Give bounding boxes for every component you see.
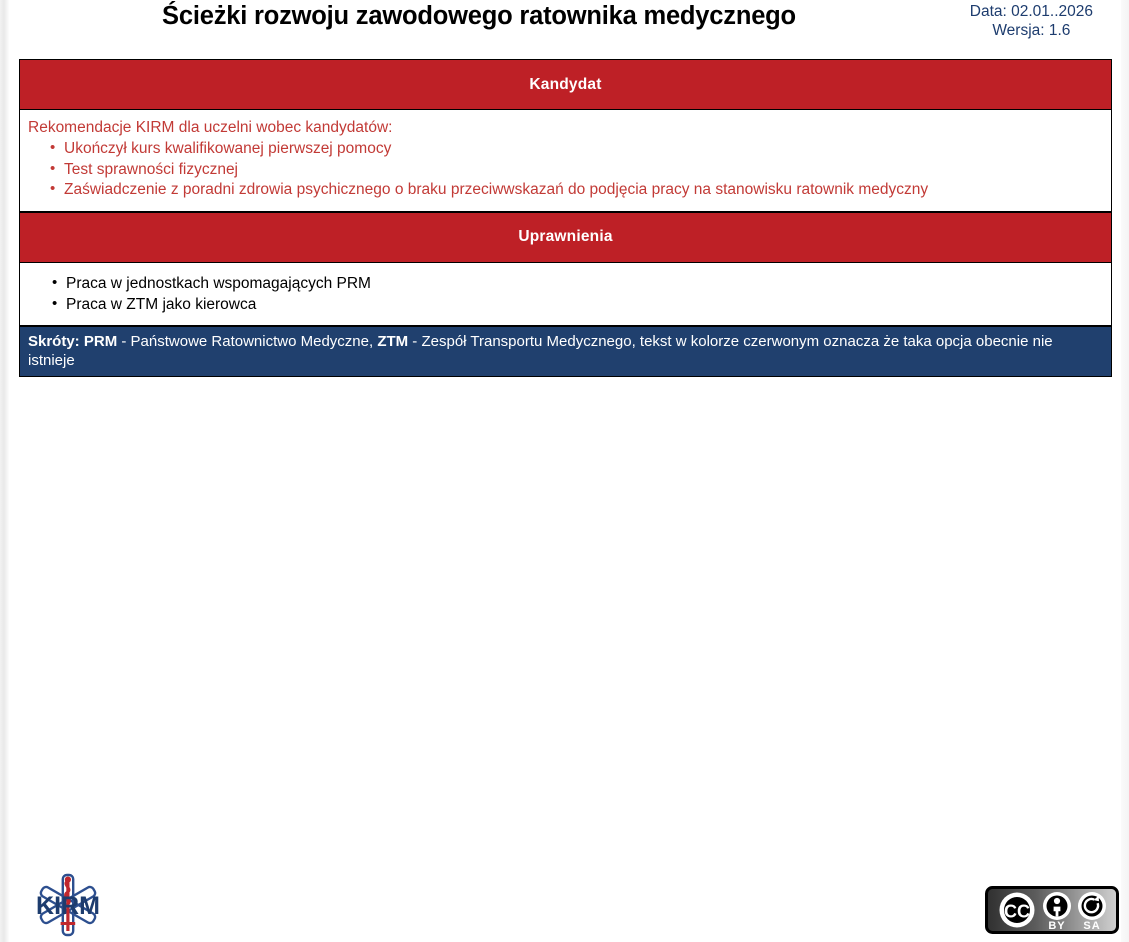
permissions-list: Praca w jednostkach wspomagających PRM P…: [26, 273, 1101, 315]
kirm-logo: KIRM: [20, 872, 116, 938]
page-title: Ścieżki rozwoju zawodowego ratownika med…: [9, 2, 949, 31]
page-edge-left: [0, 0, 9, 942]
document-date: Data: 02.01..2026: [970, 2, 1093, 21]
legend-abbr-prm: PRM: [84, 333, 117, 350]
document-version: Wersja: 1.6: [970, 21, 1093, 40]
recommendation-list: Ukończył kurs kwalifikowanej pierwszej p…: [26, 139, 1101, 201]
section-body-uprawnienia: Praca w jednostkach wspomagających PRM P…: [19, 262, 1112, 326]
kirm-logo-graphic: KIRM: [20, 872, 116, 938]
kirm-wordmark-text: KIRM: [36, 892, 100, 920]
list-item: Zaświadczenie z poradni zdrowia psychicz…: [50, 180, 1101, 201]
cc-badge-graphic: CC BY SA: [985, 886, 1119, 934]
section-header-label: Uprawnienia: [518, 228, 612, 246]
legend-prm-expansion: - Państwowe Ratownictwo Medyczne,: [117, 333, 377, 350]
list-item: Ukończył kurs kwalifikowanej pierwszej p…: [50, 139, 1101, 160]
section-header-kandydat: Kandydat: [19, 59, 1112, 109]
legend-bar: Skróty: PRM - Państwowe Ratownictwo Medy…: [19, 326, 1112, 377]
section-body-kandydat: Rekomendacje KIRM dla uczelni wobec kand…: [19, 109, 1112, 212]
legend-abbr-ztm: ZTM: [377, 333, 408, 350]
by-text: BY: [1048, 920, 1065, 932]
cc-icon: CC: [1000, 893, 1035, 928]
sa-text: SA: [1083, 920, 1100, 932]
section-intro-text: Rekomendacje KIRM dla uczelni wobec kand…: [28, 118, 1101, 138]
list-item: Praca w ZTM jako kierowca: [52, 294, 1101, 315]
legend-label-skroty: Skróty:: [28, 333, 80, 350]
list-item: Praca w jednostkach wspomagających PRM: [52, 273, 1101, 294]
document-header: Ścieżki rozwoju zawodowego ratownika med…: [9, 0, 1121, 47]
cc-license-badge[interactable]: CC BY SA: [985, 886, 1119, 934]
list-item: Test sprawności fizycznej: [50, 160, 1101, 181]
cc-text: CC: [1004, 902, 1030, 922]
section-header-uprawnienia: Uprawnienia: [19, 212, 1112, 262]
document-meta: Data: 02.01..2026 Wersja: 1.6: [970, 2, 1093, 40]
sections-container: Kandydat Rekomendacje KIRM dla uczelni w…: [19, 59, 1112, 377]
section-header-label: Kandydat: [529, 76, 601, 94]
page-edge-right: [1121, 0, 1129, 942]
